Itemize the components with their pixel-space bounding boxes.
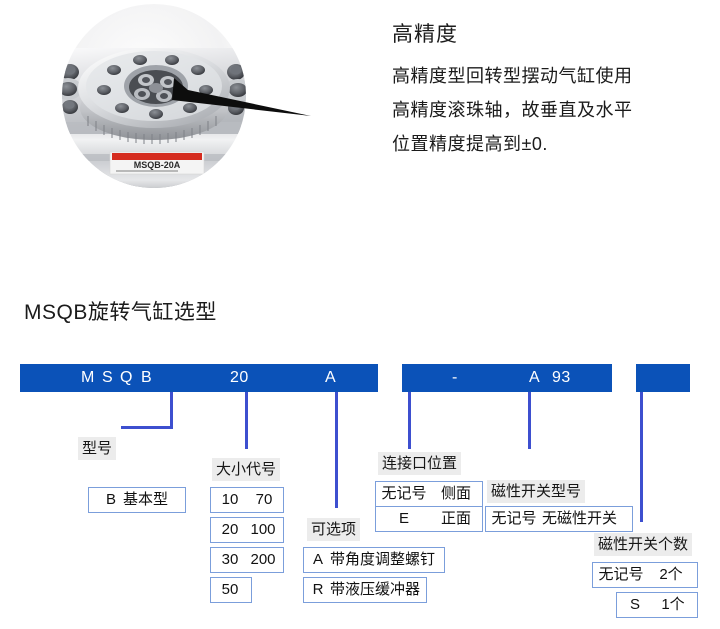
code-blank-port xyxy=(378,364,402,392)
callout-model-option-0-code: B xyxy=(103,490,119,510)
callout-optional-option-0[interactable]: A 带角度调整螺钉 xyxy=(303,547,445,573)
callout-switch-count-option-0[interactable]: 无记号 2个 xyxy=(592,562,698,588)
connector-port-vertical xyxy=(408,392,411,449)
callout-switch-count-option-1-desc: 1个 xyxy=(653,595,693,615)
callout-switch-model-option-0[interactable]: 无记号 无磁性开关 xyxy=(485,506,633,532)
callout-size-option-0-desc: 70 xyxy=(249,490,279,510)
callout-port-option-0[interactable]: 无记号 侧面 xyxy=(375,481,483,507)
code-char-b: B xyxy=(141,368,152,388)
callout-size-option-2-desc: 200 xyxy=(245,550,281,570)
callout-model-option-0[interactable]: B 基本型 xyxy=(88,487,186,513)
connector-model-vertical xyxy=(170,392,173,429)
callout-size-caption: 大小代号 xyxy=(212,458,280,481)
callout-port-option-1[interactable]: E 正面 xyxy=(375,506,483,532)
callout-optional-option-0-code: A xyxy=(310,550,326,570)
callout-switch-model-option-0-code: 无记号 xyxy=(490,509,538,529)
callout-size-option-0-code: 10 xyxy=(217,490,243,510)
connector-switch-count-vertical xyxy=(640,392,643,522)
callout-port-option-1-code: E xyxy=(380,509,428,529)
section-title: MSQB旋转气缸选型 xyxy=(24,296,217,326)
callout-optional-option-0-desc: 带角度调整螺钉 xyxy=(330,550,442,570)
code-char-s: S xyxy=(102,368,113,388)
callout-switch-count-option-1[interactable]: S 1个 xyxy=(616,592,698,618)
connector-model-horizontal xyxy=(121,426,173,429)
code-dash: - xyxy=(452,368,458,388)
connector-optional-vertical xyxy=(335,392,338,508)
callout-size-option-2[interactable]: 30 200 xyxy=(210,547,284,573)
code-option: A xyxy=(325,368,336,388)
callout-size-option-2-code: 30 xyxy=(217,550,243,570)
callout-optional-option-1-code: R xyxy=(310,580,326,600)
callout-switch-count-caption: 磁性开关个数 xyxy=(594,533,692,556)
code-char-m: M xyxy=(81,368,95,388)
callout-port-caption: 连接口位置 xyxy=(378,452,461,475)
callout-switch-model-caption: 磁性开关型号 xyxy=(487,480,585,503)
callout-optional-caption: 可选项 xyxy=(307,518,360,541)
callout-port-option-0-desc: 侧面 xyxy=(434,484,478,504)
callout-optional-option-1[interactable]: R 带液压缓冲器 xyxy=(303,577,427,603)
product-photo: MSQB-20A xyxy=(22,4,312,204)
connector-switch-model-vertical xyxy=(528,392,531,449)
model-code-bar: M S Q B 20 A - A 93 xyxy=(20,364,690,392)
code-char-q: Q xyxy=(120,368,133,388)
description-line-3: 位置精度提高到±0. xyxy=(392,127,712,161)
code-size: 20 xyxy=(230,368,249,388)
callout-size-option-1[interactable]: 20 100 xyxy=(210,517,284,543)
svg-text:MSQB-20A: MSQB-20A xyxy=(134,160,181,170)
description-line-1: 高精度型回转型摆动气缸使用 xyxy=(392,59,712,93)
callout-port-option-0-code: 无记号 xyxy=(380,484,428,504)
selection-guide-page: MSQB-20A 高精度 高精度型回转型摆动气缸使用 高精度滚珠轴，故垂直及水平… xyxy=(0,0,720,629)
callout-size-option-1-desc: 100 xyxy=(245,520,281,540)
callout-port-option-1-desc: 正面 xyxy=(434,509,478,529)
callout-switch-model-option-0-desc: 无磁性开关 xyxy=(542,509,628,529)
callout-size-option-3-code: 50 xyxy=(215,580,245,600)
callout-size-option-0[interactable]: 10 70 xyxy=(210,487,284,513)
callout-size-option-1-code: 20 xyxy=(217,520,243,540)
callout-size-option-3[interactable]: 50 xyxy=(210,577,252,603)
description-line-2: 高精度滚珠轴，故垂直及水平 xyxy=(392,93,712,127)
callout-model-option-0-desc: 基本型 xyxy=(123,490,179,510)
callout-optional-option-1-desc: 带液压缓冲器 xyxy=(330,580,424,600)
code-switch-a: A xyxy=(529,368,540,388)
callout-switch-count-option-0-desc: 2个 xyxy=(649,565,693,585)
description-block: 高精度 高精度型回转型摆动气缸使用 高精度滚珠轴，故垂直及水平 位置精度提高到±… xyxy=(392,22,712,161)
callout-switch-count-option-0-code: 无记号 xyxy=(597,565,645,585)
product-label: MSQB-20A xyxy=(110,152,204,174)
product-photo-illustration: MSQB-20A xyxy=(22,4,312,204)
code-blank-count xyxy=(612,364,636,392)
callout-model-caption: 型号 xyxy=(78,437,116,460)
code-switch-93: 93 xyxy=(552,368,571,388)
connector-size-vertical xyxy=(245,392,248,449)
description-heading: 高精度 xyxy=(392,22,712,48)
callout-switch-count-option-1-code: S xyxy=(621,595,649,615)
actuator-assembly: MSQB-20A xyxy=(48,48,260,202)
